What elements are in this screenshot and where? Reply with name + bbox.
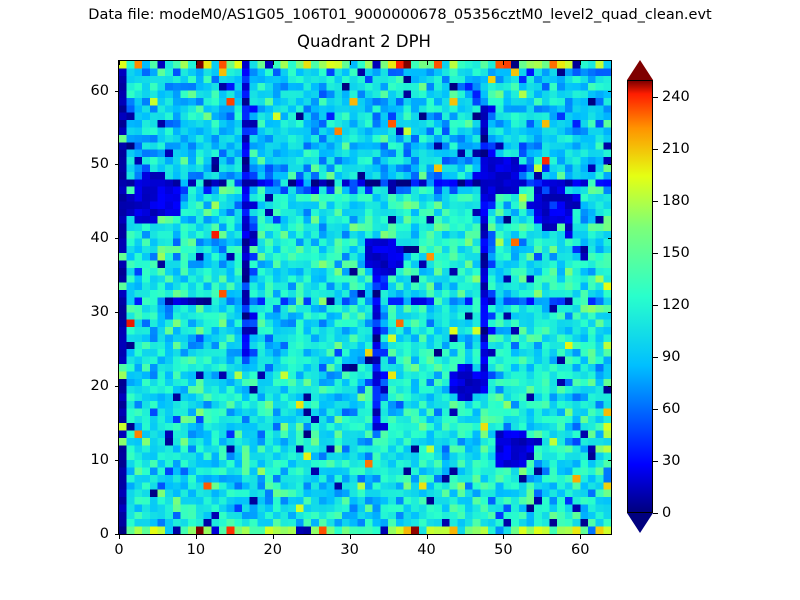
x-tick-mark-inner [503, 61, 504, 65]
y-tick-label: 20 [91, 378, 109, 394]
colorbar-tick-label: 150 [662, 245, 690, 261]
y-tick-mark [115, 534, 119, 535]
colorbar-tick-label: 240 [662, 89, 690, 105]
x-tick-mark [427, 535, 428, 539]
y-tick-mark-inner [608, 386, 612, 387]
colorbar-tick-label: 0 [662, 505, 671, 521]
y-tick-label: 50 [91, 156, 109, 172]
colorbar-min-arrow [627, 513, 653, 533]
y-tick-mark-inner [608, 460, 612, 461]
x-tick-mark-inner [119, 61, 120, 65]
colorbar-tick-label: 90 [662, 349, 680, 365]
colorbar-max-arrow [627, 60, 653, 80]
x-tick-label: 0 [114, 542, 123, 558]
colorbar-tick-mark [653, 513, 658, 514]
colorbar-tick-mark [653, 461, 658, 462]
y-tick-label: 10 [91, 452, 109, 468]
y-tick-mark-inner [608, 164, 612, 165]
y-tick-mark [115, 460, 119, 461]
y-tick-mark [115, 164, 119, 165]
x-tick-label: 50 [494, 542, 512, 558]
heatmap-axes: 0102030405060 0102030405060 [118, 60, 612, 535]
y-tick-label: 30 [91, 304, 109, 320]
colorbar-tick-mark [653, 305, 658, 306]
y-tick-mark [115, 238, 119, 239]
y-tick-mark [115, 91, 119, 92]
x-tick-mark [580, 535, 581, 539]
x-tick-mark-inner [427, 61, 428, 65]
y-tick-label: 60 [91, 83, 109, 99]
colorbar-tick-mark [653, 201, 658, 202]
figure-canvas: Data file: modeM0/AS1G05_106T01_90000006… [0, 0, 800, 600]
y-tick-mark-inner [608, 534, 612, 535]
x-tick-mark [119, 535, 120, 539]
colorbar-tick-label: 60 [662, 401, 680, 417]
colorbar-tick-label: 210 [662, 141, 690, 157]
colorbar-tick-mark [653, 253, 658, 254]
colorbar-tick-mark [653, 357, 658, 358]
x-tick-label: 10 [187, 542, 205, 558]
heatmap-image [119, 61, 611, 534]
x-tick-mark-inner [273, 61, 274, 65]
colorbar-gradient [627, 80, 653, 513]
y-tick-mark-inner [608, 91, 612, 92]
x-tick-label: 40 [417, 542, 435, 558]
colorbar-tick-label: 120 [662, 297, 690, 313]
colorbar-tick-mark [653, 97, 658, 98]
x-tick-label: 20 [264, 542, 282, 558]
x-tick-mark [196, 535, 197, 539]
axes-title: Quadrant 2 DPH [118, 32, 610, 51]
colorbar-tick-mark [653, 149, 658, 150]
y-tick-label: 0 [100, 526, 109, 542]
x-tick-label: 60 [571, 542, 589, 558]
x-tick-mark-inner [196, 61, 197, 65]
colorbar-tick-label: 30 [662, 453, 680, 469]
colorbar-tick-label: 180 [662, 193, 690, 209]
colorbar-tick-mark [653, 409, 658, 410]
x-tick-mark [273, 535, 274, 539]
y-tick-mark-inner [608, 238, 612, 239]
y-tick-label: 40 [91, 230, 109, 246]
y-tick-mark [115, 312, 119, 313]
figure-suptitle: Data file: modeM0/AS1G05_106T01_90000006… [0, 7, 800, 23]
x-tick-label: 30 [340, 542, 358, 558]
x-tick-mark-inner [580, 61, 581, 65]
y-tick-mark-inner [608, 312, 612, 313]
x-tick-mark [350, 535, 351, 539]
y-tick-mark [115, 386, 119, 387]
x-tick-mark-inner [350, 61, 351, 65]
colorbar: 0306090120150180210240 [627, 60, 653, 533]
x-tick-mark [503, 535, 504, 539]
